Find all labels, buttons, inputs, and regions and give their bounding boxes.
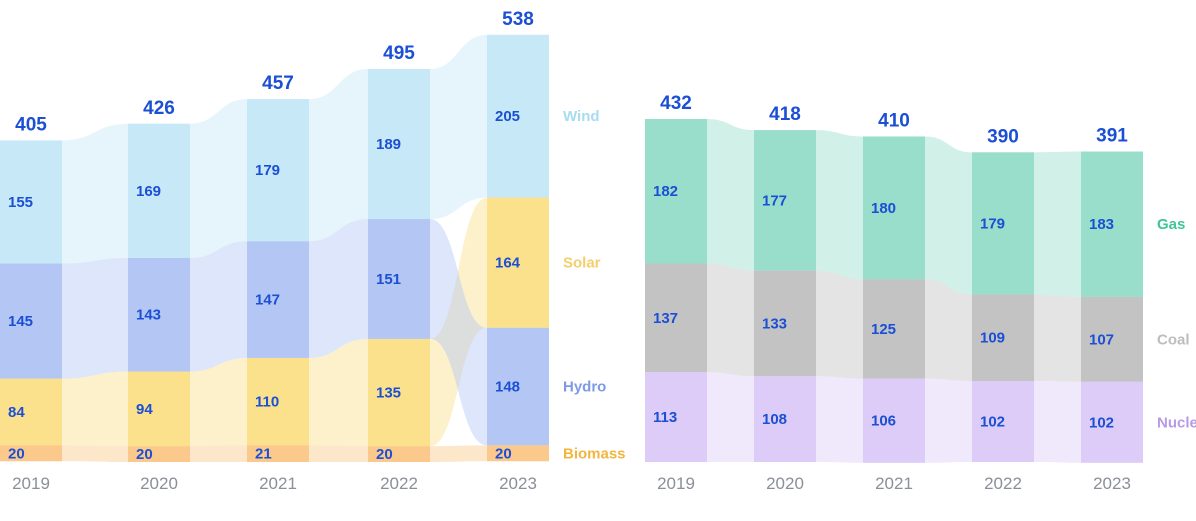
value-label-gas-2021: 180 — [871, 200, 896, 217]
value-label-wind-2019: 155 — [8, 194, 33, 211]
value-label-coal-2022: 109 — [980, 330, 1005, 347]
conventional-bump-chart: 1821771801791831371331251091071131081061… — [630, 0, 1196, 521]
x-tick-2022: 2022 — [984, 474, 1022, 493]
value-label-solar-2023: 164 — [495, 255, 521, 272]
x-tick-2019: 2019 — [657, 474, 695, 493]
series-label-coal[interactable]: Coal — [1157, 331, 1190, 348]
total-label-2019: 405 — [15, 114, 47, 135]
total-label-2019: 432 — [660, 93, 692, 114]
total-label-2023: 538 — [502, 9, 534, 30]
value-label-solar-2020: 94 — [136, 401, 153, 418]
total-label-2022: 390 — [987, 126, 1019, 147]
x-axis: 20192020202120222023 — [12, 474, 537, 493]
value-label-nuclear-2021: 106 — [871, 413, 896, 430]
value-label-biomass-2020: 20 — [136, 446, 153, 463]
value-label-nuclear-2020: 108 — [762, 411, 787, 428]
value-label-gas-2023: 183 — [1089, 216, 1114, 233]
series-label-biomass[interactable]: Biomass — [563, 445, 626, 462]
value-label-hydro-2023: 148 — [495, 379, 520, 396]
value-label-biomass-2021: 21 — [255, 446, 272, 463]
total-label-2022: 495 — [383, 43, 415, 64]
value-label-biomass-2023: 20 — [495, 445, 512, 462]
x-tick-2021: 2021 — [875, 474, 913, 493]
bump-chart-page: 1551691791892058494110135164145143147151… — [0, 0, 1196, 521]
x-tick-2023: 2023 — [499, 474, 537, 493]
value-label-nuclear-2019: 113 — [653, 409, 677, 426]
renewables-bump-chart: 1551691791892058494110135164145143147151… — [0, 0, 630, 521]
value-label-solar-2021: 110 — [255, 394, 279, 411]
x-axis: 20192020202120222023 — [657, 474, 1131, 493]
value-label-coal-2023: 107 — [1089, 331, 1114, 348]
x-tick-2019: 2019 — [12, 474, 50, 493]
value-label-gas-2022: 179 — [980, 215, 1005, 232]
value-label-nuclear-2023: 102 — [1089, 414, 1114, 431]
value-label-hydro-2019: 145 — [8, 313, 33, 330]
value-label-biomass-2022: 20 — [376, 446, 393, 463]
total-label-2023: 391 — [1096, 126, 1128, 147]
value-label-coal-2019: 137 — [653, 310, 678, 327]
value-label-wind-2022: 189 — [376, 136, 401, 153]
value-label-gas-2020: 177 — [762, 192, 787, 209]
conventional-chart-panel: 1821771801791831371331251091071131081061… — [630, 0, 1196, 521]
total-label-2020: 426 — [143, 98, 175, 119]
series-legend: WindSolarHydroBiomass — [563, 108, 626, 462]
series-label-hydro[interactable]: Hydro — [563, 379, 606, 396]
value-label-hydro-2021: 147 — [255, 292, 280, 309]
value-label-biomass-2019: 20 — [8, 445, 25, 462]
value-label-coal-2020: 133 — [762, 315, 787, 332]
value-label-gas-2019: 182 — [653, 183, 678, 200]
value-label-coal-2021: 125 — [871, 321, 896, 338]
x-tick-2020: 2020 — [766, 474, 804, 493]
value-label-solar-2022: 135 — [376, 385, 401, 402]
total-label-2021: 410 — [878, 110, 910, 131]
x-tick-2022: 2022 — [380, 474, 418, 493]
value-label-nuclear-2022: 102 — [980, 414, 1005, 431]
value-label-solar-2019: 84 — [8, 404, 25, 421]
total-label-2021: 457 — [262, 73, 294, 94]
series-label-wind[interactable]: Wind — [563, 108, 600, 125]
value-label-wind-2023: 205 — [495, 108, 520, 125]
series-label-nuclear[interactable]: Nuclear — [1157, 414, 1196, 431]
x-tick-2023: 2023 — [1093, 474, 1131, 493]
series-legend: GasCoalNuclear — [1157, 216, 1196, 431]
value-label-wind-2021: 179 — [255, 162, 280, 179]
value-label-hydro-2020: 143 — [136, 307, 161, 324]
value-label-hydro-2022: 151 — [376, 271, 401, 288]
series-label-solar[interactable]: Solar — [563, 255, 601, 272]
series-label-gas[interactable]: Gas — [1157, 216, 1185, 233]
value-label-wind-2020: 169 — [136, 183, 161, 200]
x-tick-2021: 2021 — [259, 474, 297, 493]
x-tick-2020: 2020 — [140, 474, 178, 493]
renewables-chart-panel: 1551691791892058494110135164145143147151… — [0, 0, 630, 521]
total-label-2020: 418 — [769, 104, 801, 125]
